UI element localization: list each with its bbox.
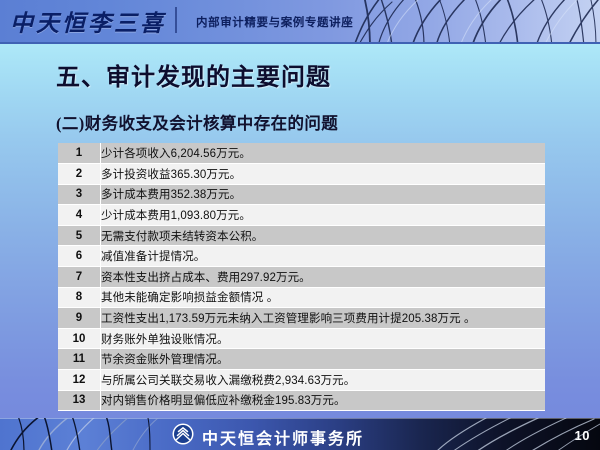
company-logo-icon xyxy=(172,423,194,445)
row-number-cell: 2 xyxy=(58,164,101,185)
table-row: 13对内销售价格明显偏低应补缴税金195.83万元。 xyxy=(58,390,545,411)
row-issue-text-cell: 节余资金账外管理情况。 xyxy=(101,349,546,370)
row-number-cell: 11 xyxy=(58,349,101,370)
page-number: 10 xyxy=(575,428,590,443)
issues-table: 1少计各项收入6,204.56万元。2多计投资收益365.30万元。3多计成本费… xyxy=(58,143,545,411)
brand-logo-text: 中天恒李三喜 xyxy=(10,4,166,38)
row-number-cell: 1 xyxy=(58,143,101,164)
row-issue-text-cell: 少计成本费用1,093.80万元。 xyxy=(101,205,546,226)
table-row: 3多计成本费用352.38万元。 xyxy=(58,184,545,205)
table-row: 8其他未能确定影响损益金额情况 。 xyxy=(58,287,545,308)
grass-decoration-header xyxy=(340,0,600,44)
table-row: 10财务账外单独设账情况。 xyxy=(58,328,545,349)
row-number-cell: 3 xyxy=(58,184,101,205)
row-number-cell: 6 xyxy=(58,246,101,267)
table-row: 12与所属公司关联交易收入漏缴税费2,934.63万元。 xyxy=(58,370,545,391)
row-number-cell: 7 xyxy=(58,267,101,288)
row-issue-text-cell: 资本性支出挤占成本、费用297.92万元。 xyxy=(101,267,546,288)
row-number-cell: 8 xyxy=(58,287,101,308)
table-row: 7资本性支出挤占成本、费用297.92万元。 xyxy=(58,267,545,288)
table-row: 1少计各项收入6,204.56万元。 xyxy=(58,143,545,164)
row-issue-text-cell: 其他未能确定影响损益金额情况 。 xyxy=(101,287,546,308)
row-issue-text-cell: 工资性支出1,173.59万元未纳入工资管理影响三项费用计提205.38万元 。 xyxy=(101,308,546,329)
row-number-cell: 13 xyxy=(58,390,101,411)
row-number-cell: 12 xyxy=(58,370,101,391)
row-issue-text-cell: 无需支付款项未结转资本公积。 xyxy=(101,225,546,246)
row-issue-text-cell: 多计成本费用352.38万元。 xyxy=(101,184,546,205)
header-divider xyxy=(175,7,177,33)
row-issue-text-cell: 财务账外单独设账情况。 xyxy=(101,328,546,349)
row-issue-text-cell: 与所属公司关联交易收入漏缴税费2,934.63万元。 xyxy=(101,370,546,391)
table-row: 4少计成本费用1,093.80万元。 xyxy=(58,205,545,226)
table-row: 5无需支付款项未结转资本公积。 xyxy=(58,225,545,246)
slide-footer: 中天恒会计师事务所 10 xyxy=(0,418,600,450)
row-number-cell: 10 xyxy=(58,328,101,349)
row-issue-text-cell: 多计投资收益365.30万元。 xyxy=(101,164,546,185)
row-issue-text-cell: 对内销售价格明显偏低应补缴税金195.83万元。 xyxy=(101,390,546,411)
table-row: 11节余资金账外管理情况。 xyxy=(58,349,545,370)
row-issue-text-cell: 减值准备计提情况。 xyxy=(101,246,546,267)
presentation-slide: 中天恒李三喜 内部审计精要与案例专题讲座 五、审计发现的主要问题 (二)财务收支… xyxy=(0,0,600,450)
header-bottom-rule xyxy=(0,42,600,44)
row-number-cell: 9 xyxy=(58,308,101,329)
row-issue-text-cell: 少计各项收入6,204.56万元。 xyxy=(101,143,546,164)
slide-title: 五、审计发现的主要问题 xyxy=(56,57,331,92)
footer-company-name: 中天恒会计师事务所 xyxy=(202,425,364,449)
footer-top-rule xyxy=(0,418,600,419)
table-row: 2多计投资收益365.30万元。 xyxy=(58,164,545,185)
table-row: 9工资性支出1,173.59万元未纳入工资管理影响三项费用计提205.38万元 … xyxy=(58,308,545,329)
slide-header: 中天恒李三喜 内部审计精要与案例专题讲座 xyxy=(0,0,600,44)
header-subtitle: 内部审计精要与案例专题讲座 xyxy=(196,14,353,30)
row-number-cell: 5 xyxy=(58,225,101,246)
row-number-cell: 4 xyxy=(58,205,101,226)
slide-section-title: (二)财务收支及会计核算中存在的问题 xyxy=(56,110,338,134)
table-row: 6减值准备计提情况。 xyxy=(58,246,545,267)
issues-table-body: 1少计各项收入6,204.56万元。2多计投资收益365.30万元。3多计成本费… xyxy=(58,143,545,411)
